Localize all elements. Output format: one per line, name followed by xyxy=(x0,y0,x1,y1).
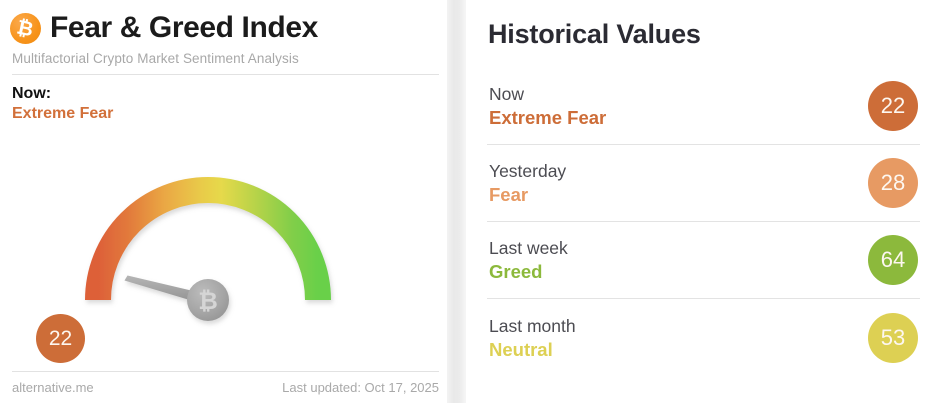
bitcoin-glyph-hub: ₿ xyxy=(198,287,218,315)
bitcoin-icon: ₿ xyxy=(10,13,41,44)
historical-values-title: Historical Values xyxy=(488,18,920,50)
last-updated-text: Last updated: Oct 17, 2025 xyxy=(282,380,439,395)
list-item[interactable]: Yesterday Fear 28 xyxy=(487,145,920,222)
bitcoin-glyph: ₿ xyxy=(15,17,35,40)
historical-values-panel: Historical Values Now Extreme Fear 22 Ye… xyxy=(466,0,939,403)
history-period-label: Yesterday xyxy=(489,161,566,181)
panel-footer: alternative.me Last updated: Oct 17, 202… xyxy=(12,371,439,395)
page-subtitle: Multifactorial Crypto Market Sentiment A… xyxy=(12,51,437,66)
history-classification-label: Neutral xyxy=(489,339,576,360)
source-link[interactable]: alternative.me xyxy=(12,380,94,395)
history-period-label: Now xyxy=(489,84,606,104)
gauge-panel: ₿ Fear & Greed Index Multifactorial Cryp… xyxy=(0,0,447,403)
list-item[interactable]: Now Extreme Fear 22 xyxy=(487,68,920,145)
status-badge: 22 xyxy=(868,81,918,131)
gauge-value-text: 22 xyxy=(49,328,72,349)
status-badge: 64 xyxy=(868,235,918,285)
history-classification-label: Fear xyxy=(489,184,566,205)
gauge-value-bubble: 22 xyxy=(36,314,85,363)
history-classification-label: Extreme Fear xyxy=(489,107,606,128)
history-value-text: 64 xyxy=(881,249,905,271)
history-classification-label: Greed xyxy=(489,261,568,282)
gauge-chart: ₿ 22 xyxy=(0,130,447,360)
footer-divider xyxy=(12,371,439,372)
panel-header: ₿ Fear & Greed Index xyxy=(10,8,437,48)
panel-divider xyxy=(447,0,466,403)
history-value-text: 53 xyxy=(881,327,905,349)
list-item[interactable]: Last week Greed 64 xyxy=(487,222,920,299)
header-divider xyxy=(12,74,439,75)
status-badge: 53 xyxy=(868,313,918,363)
page-title: Fear & Greed Index xyxy=(50,13,318,43)
history-value-text: 28 xyxy=(881,172,905,194)
list-item[interactable]: Last month Neutral 53 xyxy=(487,299,920,376)
now-value: Extreme Fear xyxy=(12,104,437,124)
history-value-text: 22 xyxy=(881,95,905,117)
status-badge: 28 xyxy=(868,158,918,208)
now-label: Now: xyxy=(12,85,437,104)
history-period-label: Last month xyxy=(489,316,576,336)
historical-values-list: Now Extreme Fear 22 Yesterday Fear 28 xyxy=(487,68,920,376)
history-period-label: Last week xyxy=(489,238,568,258)
gauge-needle-hub: ₿ xyxy=(187,279,229,321)
fear-greed-widget: ₿ Fear & Greed Index Multifactorial Cryp… xyxy=(0,0,939,403)
now-block: Now: Extreme Fear xyxy=(12,85,437,123)
